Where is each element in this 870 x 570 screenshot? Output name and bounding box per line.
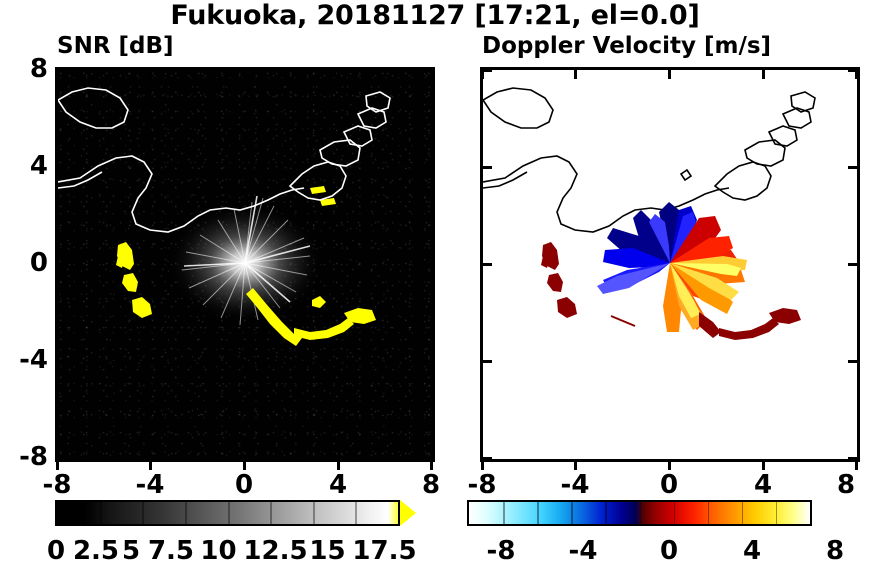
snr-overlay: [58, 70, 432, 459]
snr-colorbar-max-arrow: [400, 500, 416, 526]
dop-ytick-0: [481, 69, 492, 72]
dop-xlabel-4: 8: [822, 470, 870, 500]
snr-plot-area: [55, 67, 435, 462]
doppler-coastline: [483, 88, 815, 232]
dop-xtick-top-1: [574, 68, 577, 79]
dop-xtick-top-3: [762, 68, 765, 79]
doppler-colorbar-max-arrow: [812, 500, 828, 526]
dop-ytick-2: [481, 263, 492, 266]
dop-xtick-0: [481, 459, 484, 470]
doppler-clutter-right: [699, 308, 801, 340]
snr-xtick-top-2: [243, 68, 246, 79]
dop-ytick-r-4: [848, 457, 859, 460]
snr-xtick-top-3: [337, 68, 340, 79]
dop-ytick-r-0: [848, 69, 859, 72]
dop-cbar-label-3: 4: [722, 536, 782, 566]
dop-ytick-3: [481, 360, 492, 363]
snr-cbar-label-7: 17.5: [342, 536, 427, 566]
dop-ytick-r-3: [848, 360, 859, 363]
snr-ylabel-1: 4: [0, 151, 48, 181]
dop-xtick-3: [762, 459, 765, 470]
dop-ytick-1: [481, 166, 492, 169]
snr-ytick-r-0: [423, 69, 434, 72]
snr-xtick-0: [56, 459, 59, 470]
snr-ytick-0: [56, 69, 67, 72]
dop-xlabel-3: 4: [733, 470, 793, 500]
dop-xtick-top-2: [668, 68, 671, 79]
snr-xlabel-2: 0: [214, 470, 274, 500]
dop-xtick-2: [668, 459, 671, 470]
doppler-clutter-left: [541, 242, 577, 318]
snr-ylabel-0: 8: [0, 54, 48, 84]
dop-ytick-r-1: [848, 166, 859, 169]
snr-xlabel-3: 4: [308, 470, 368, 500]
snr-xlabel-1: -4: [120, 470, 180, 500]
dop-cbar-label-2: 0: [639, 536, 699, 566]
snr-xtick-1: [149, 459, 152, 470]
doppler-plot-area: [480, 67, 860, 462]
dop-cbar-label-1: -4: [553, 536, 613, 566]
snr-ytick-3: [56, 360, 67, 363]
snr-ylabel-3: -4: [0, 345, 48, 375]
snr-ytick-4: [56, 457, 67, 460]
snr-xtick-top-1: [149, 68, 152, 79]
snr-xlabel-0: -8: [27, 470, 87, 500]
doppler-overlay: [483, 70, 857, 459]
doppler-colorbar[interactable]: [467, 500, 812, 526]
snr-clutter-left: [116, 242, 152, 318]
snr-ytick-r-1: [423, 166, 434, 169]
snr-xtick-4: [430, 459, 433, 470]
snr-panel-title: SNR [dB]: [57, 33, 174, 59]
figure-root: Fukuoka, 20181127 [17:21, el=0.0] SNR [d…: [0, 0, 870, 570]
snr-ytick-r-4: [423, 457, 434, 460]
snr-ytick-r-2: [423, 263, 434, 266]
doppler-streak: [611, 316, 635, 326]
dop-ytick-4: [481, 457, 492, 460]
snr-ytick-2: [56, 263, 67, 266]
page-title: Fukuoka, 20181127 [17:21, el=0.0]: [0, 0, 870, 32]
snr-xtick-3: [337, 459, 340, 470]
snr-echo-fan: [167, 196, 323, 325]
snr-ytick-r-3: [423, 360, 434, 363]
snr-ytick-1: [56, 166, 67, 169]
dop-cbar-label-0: -8: [471, 536, 531, 566]
snr-ylabel-2: 0: [0, 248, 48, 278]
doppler-colorbar-min-arrow: [451, 500, 467, 526]
snr-ylabel-4: -8: [0, 442, 48, 472]
doppler-panel-title: Doppler Velocity [m/s]: [482, 33, 771, 59]
dop-xlabel-0: -8: [452, 470, 512, 500]
dop-ytick-r-2: [848, 263, 859, 266]
dop-xtick-4: [855, 459, 858, 470]
snr-xtick-2: [243, 459, 246, 470]
dop-xtick-1: [574, 459, 577, 470]
dop-xlabel-1: -4: [545, 470, 605, 500]
dop-xlabel-2: 0: [639, 470, 699, 500]
dop-cbar-label-4: 8: [805, 536, 865, 566]
snr-colorbar[interactable]: [55, 500, 400, 526]
